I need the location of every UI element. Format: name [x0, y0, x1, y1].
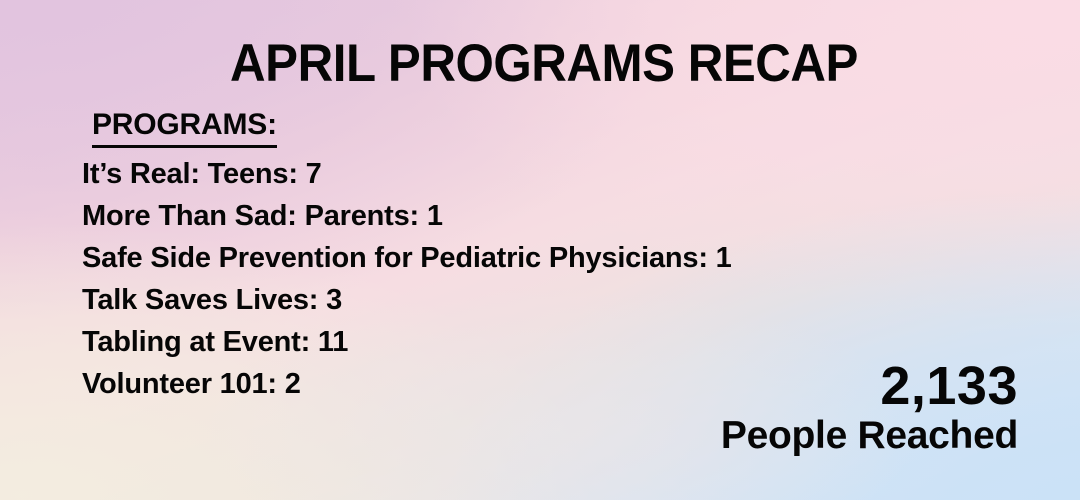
- list-item: Talk Saves Lives: 3: [82, 279, 942, 321]
- list-item: More Than Sad: Parents: 1: [82, 195, 942, 237]
- list-item: Tabling at Event: 11: [82, 321, 942, 363]
- programs-heading: PROGRAMS:: [92, 106, 277, 148]
- list-item: Safe Side Prevention for Pediatric Physi…: [82, 237, 942, 279]
- list-item: It’s Real: Teens: 7: [82, 153, 942, 195]
- page-title: APRIL PROGRAMS RECAP: [38, 36, 1050, 92]
- people-reached-stat: 2,133 People Reached: [721, 359, 1018, 458]
- stat-number: 2,133: [721, 359, 1018, 413]
- april-programs-recap-slide: APRIL PROGRAMS RECAP PROGRAMS: It’s Real…: [0, 0, 1080, 500]
- stat-label: People Reached: [721, 414, 1018, 458]
